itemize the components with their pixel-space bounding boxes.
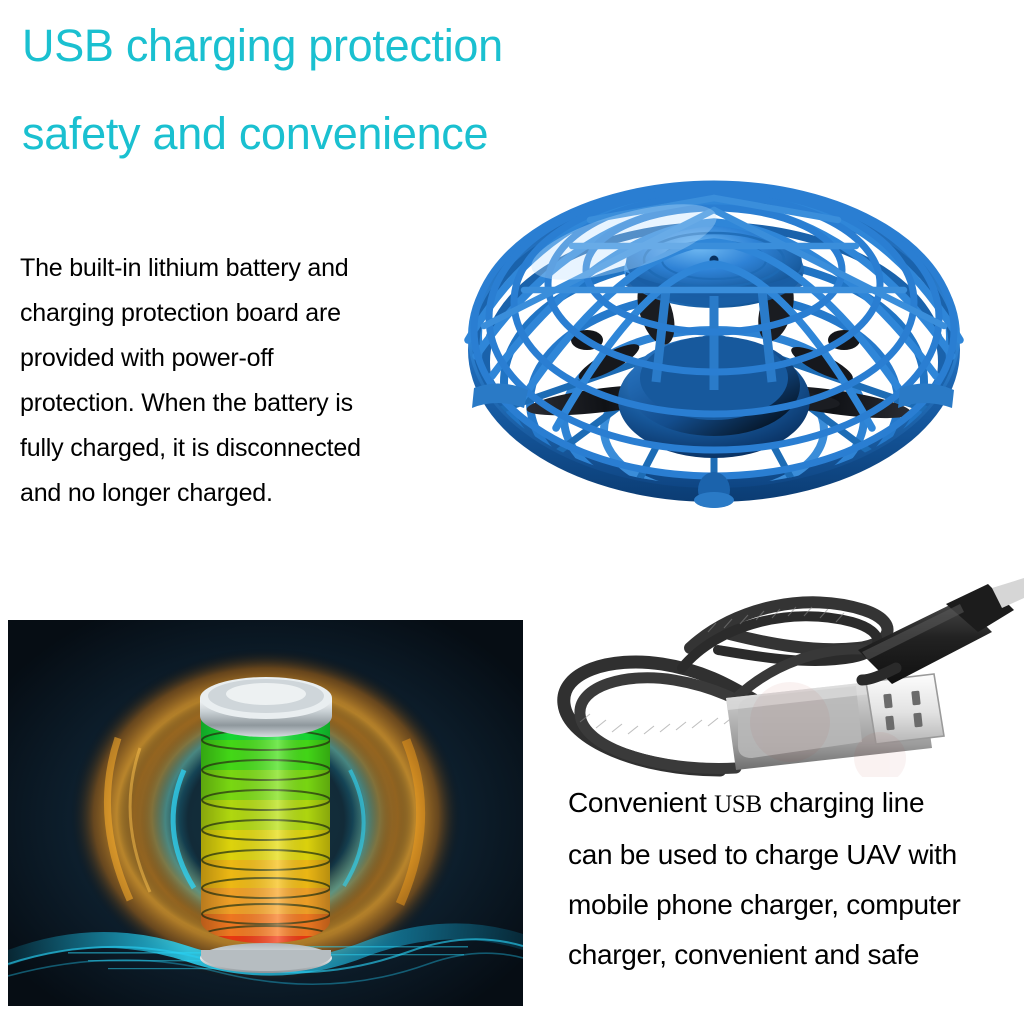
battery-cap [200, 677, 332, 737]
left-copy-line: provided with power-off [20, 336, 445, 381]
battery-product-photo [8, 620, 523, 1006]
drone-illustration [404, 150, 1024, 540]
battery-protection-description: The built-in lithium battery and chargin… [20, 246, 445, 516]
left-copy-line: charging protection board are [20, 291, 445, 336]
usb-cable-illustration [540, 572, 1024, 777]
battery-illustration [8, 620, 523, 1006]
usb-cable-product-photo [540, 572, 1024, 777]
left-copy-line: protection. When the battery is [20, 381, 445, 426]
right-copy-line: can be used to charge UAV with [568, 830, 1024, 880]
battery-cylinder [193, 677, 339, 973]
right-copy-line: mobile phone charger, computer [568, 880, 1024, 930]
left-copy-line: fully charged, it is disconnected [20, 426, 445, 471]
right-copy-usb-token: USB [714, 791, 762, 818]
drone-product-photo [404, 150, 1024, 540]
product-feature-page: USB charging protection safety and conve… [0, 0, 1024, 1024]
left-copy-line: The built-in lithium battery and [20, 246, 445, 291]
right-copy-line: charger, convenient and safe [568, 930, 1024, 980]
right-copy-line: Convenient USB charging line [568, 778, 1024, 830]
page-title-line-1: USB charging protection [22, 2, 682, 90]
battery-segments [193, 708, 339, 964]
usb-cable-description: Convenient USB charging line can be used… [568, 778, 1024, 980]
right-copy-line1-a: Convenient [568, 787, 714, 818]
left-copy-line: and no longer charged. [20, 471, 445, 516]
right-copy-line1-b: charging line [762, 787, 924, 818]
